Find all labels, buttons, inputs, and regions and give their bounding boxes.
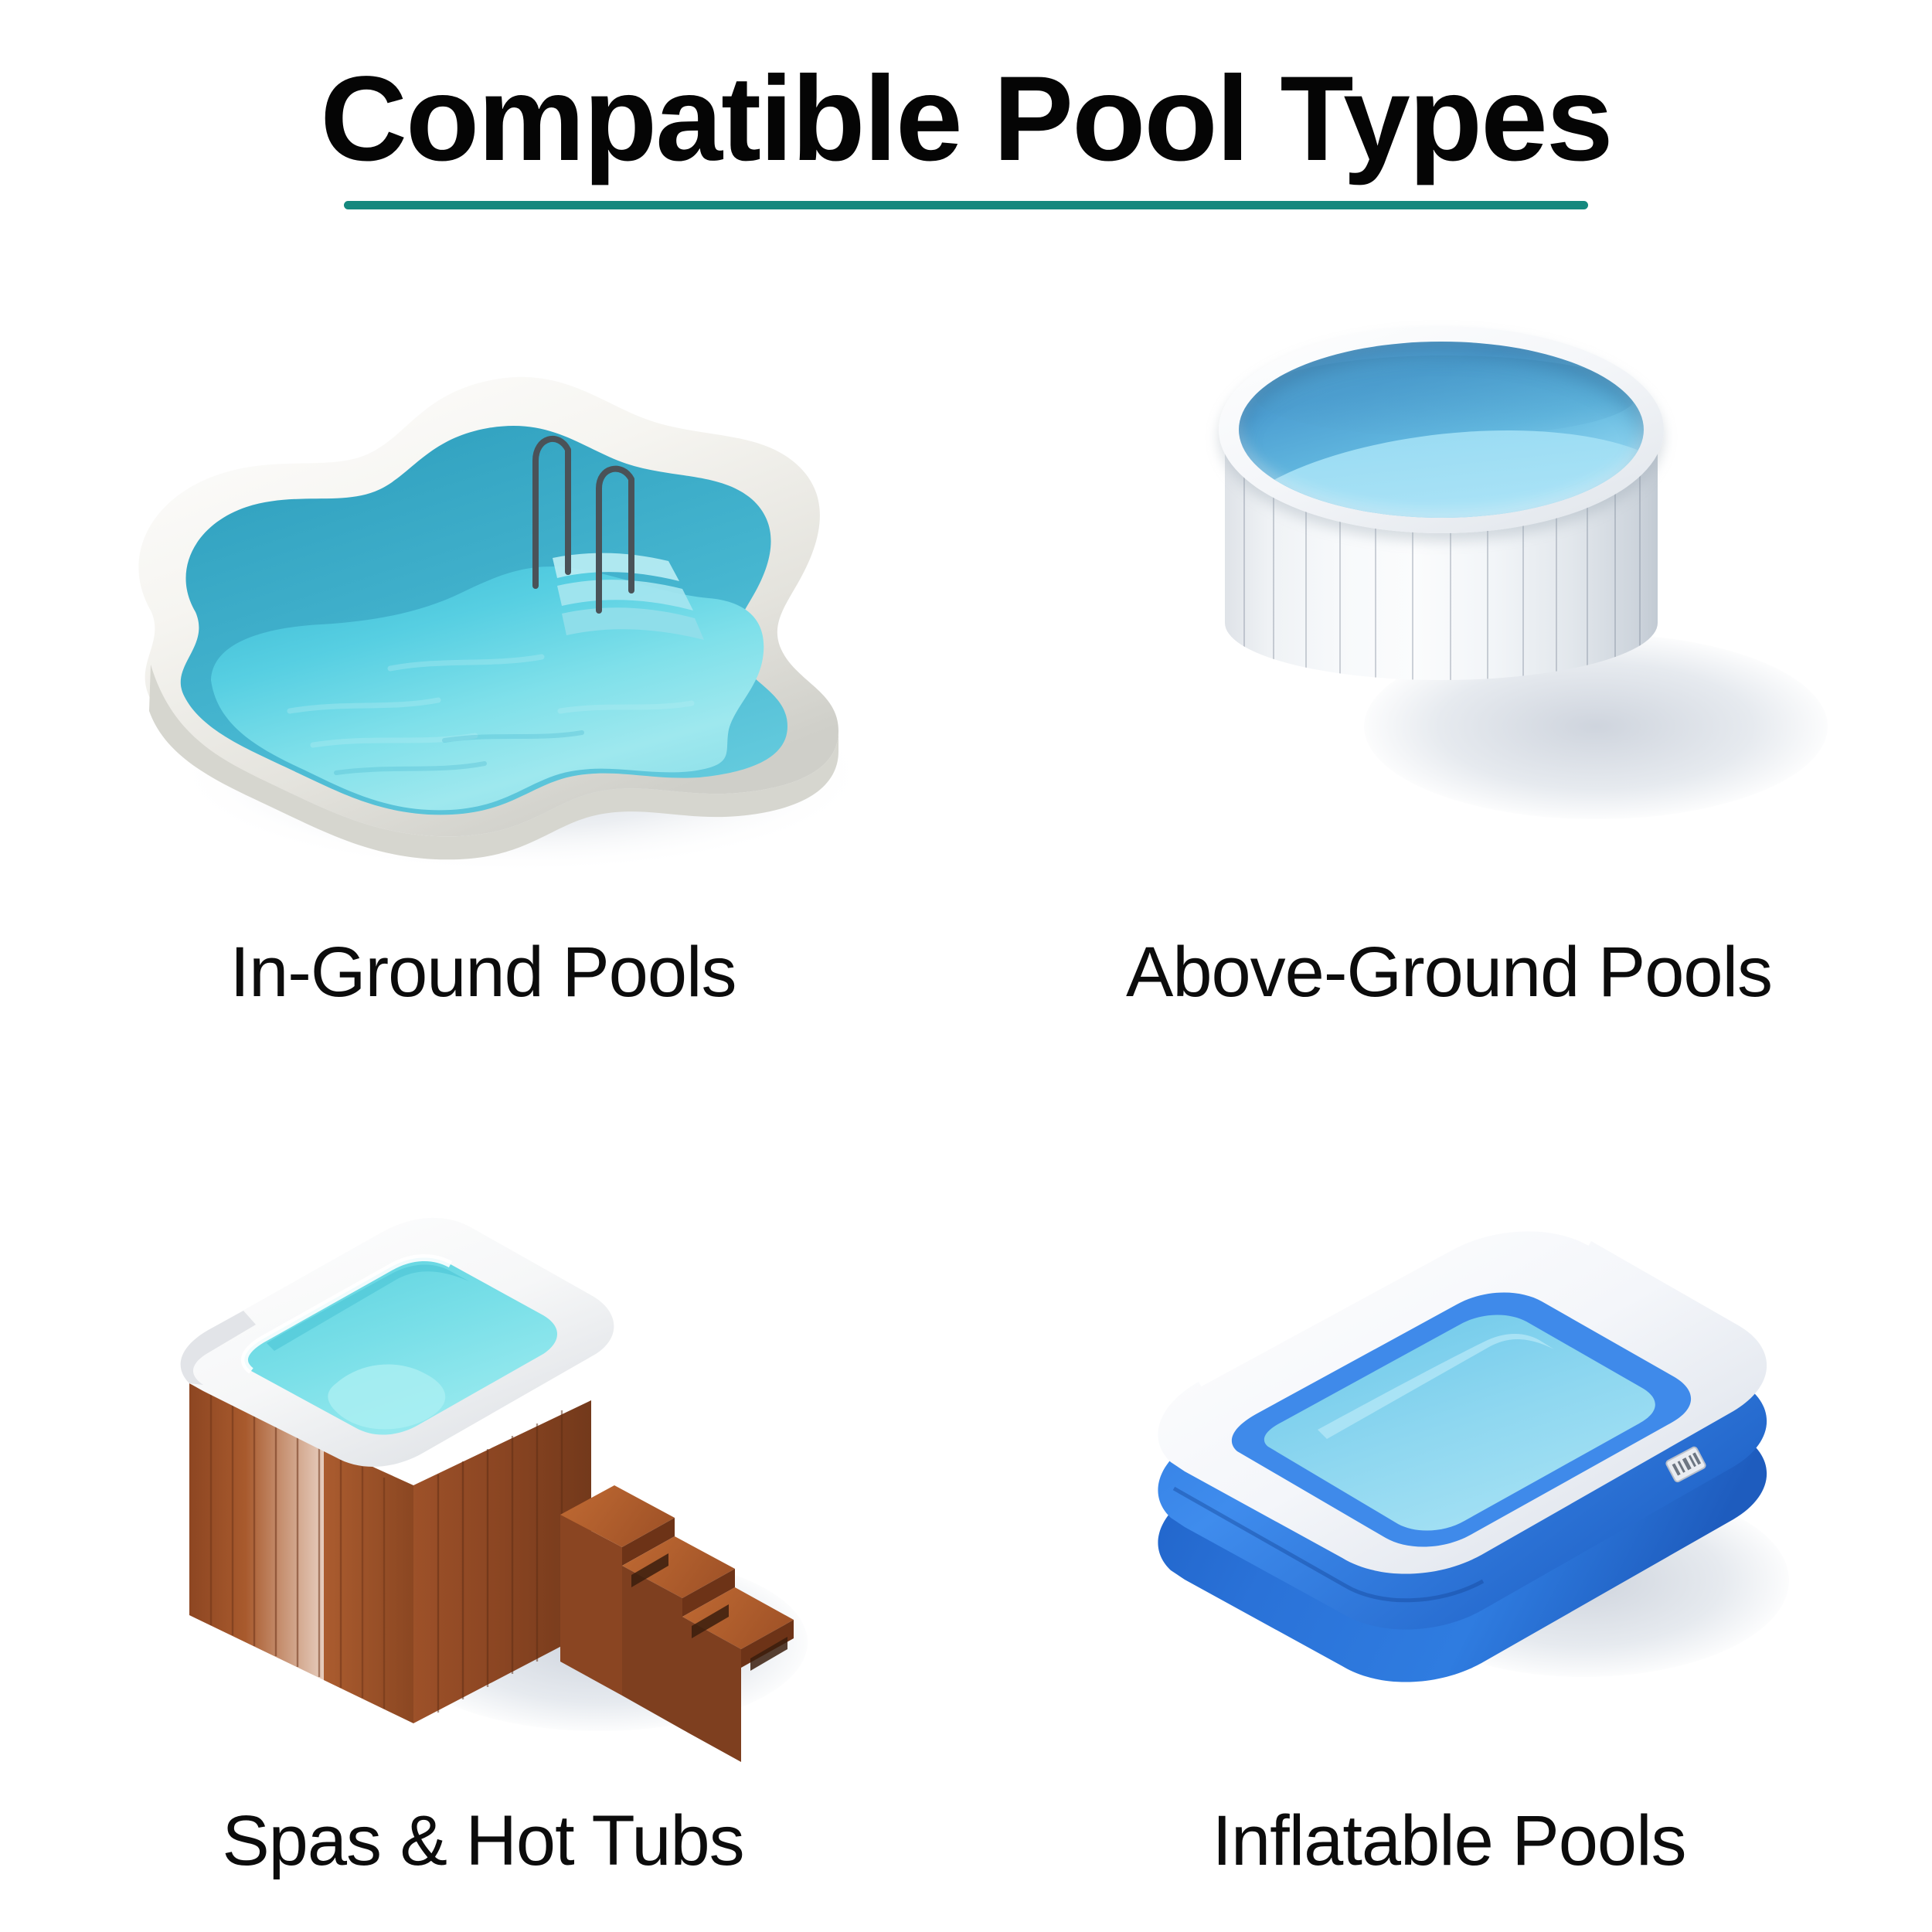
spa-hot-tub-art: [27, 1128, 939, 1777]
page-title: Compatible Pool Types: [0, 54, 1932, 184]
in-ground-pool-svg: [58, 278, 923, 889]
inflatable-pool-illustration-icon: [1124, 1175, 1789, 1731]
pool-type-card-spa-hot-tub[interactable]: Spas & Hot Tubs: [0, 1082, 966, 1909]
spa-hot-tub-svg: [158, 1151, 823, 1762]
pool-types-grid: In-Ground Pools: [0, 255, 1932, 1909]
pool-type-card-above-ground[interactable]: Above-Ground Pools: [966, 255, 1932, 1082]
pool-type-label-inflatable: Inflatable Pools: [1212, 1801, 1685, 1882]
pool-type-label-spa-hot-tub: Spas & Hot Tubs: [222, 1801, 743, 1882]
above-ground-pool-art: [993, 263, 1905, 927]
inflatable-pool-svg: [1124, 1175, 1789, 1731]
pool-type-label-above-ground: Above-Ground Pools: [1126, 932, 1772, 1013]
header: Compatible Pool Types: [0, 54, 1932, 209]
spa-hot-tub-illustration-icon: [158, 1151, 823, 1762]
above-ground-pool-water: [1239, 342, 1644, 518]
water-inner-shadow: [1239, 342, 1644, 518]
in-ground-pool-art: [27, 263, 939, 927]
above-ground-pool-illustration-icon: [1171, 309, 1758, 850]
pool-type-card-inflatable[interactable]: Inflatable Pools: [966, 1082, 1932, 1909]
pool-type-label-in-ground: In-Ground Pools: [230, 932, 736, 1013]
spa-steps: [560, 1485, 794, 1762]
pool-type-card-in-ground[interactable]: In-Ground Pools: [0, 255, 966, 1082]
compatible-pool-types-infographic: Compatible Pool Types: [0, 0, 1932, 1932]
title-underline-rule: [344, 201, 1588, 209]
in-ground-pool-illustration-icon: [58, 278, 923, 889]
inflatable-pool-art: [993, 1128, 1905, 1777]
